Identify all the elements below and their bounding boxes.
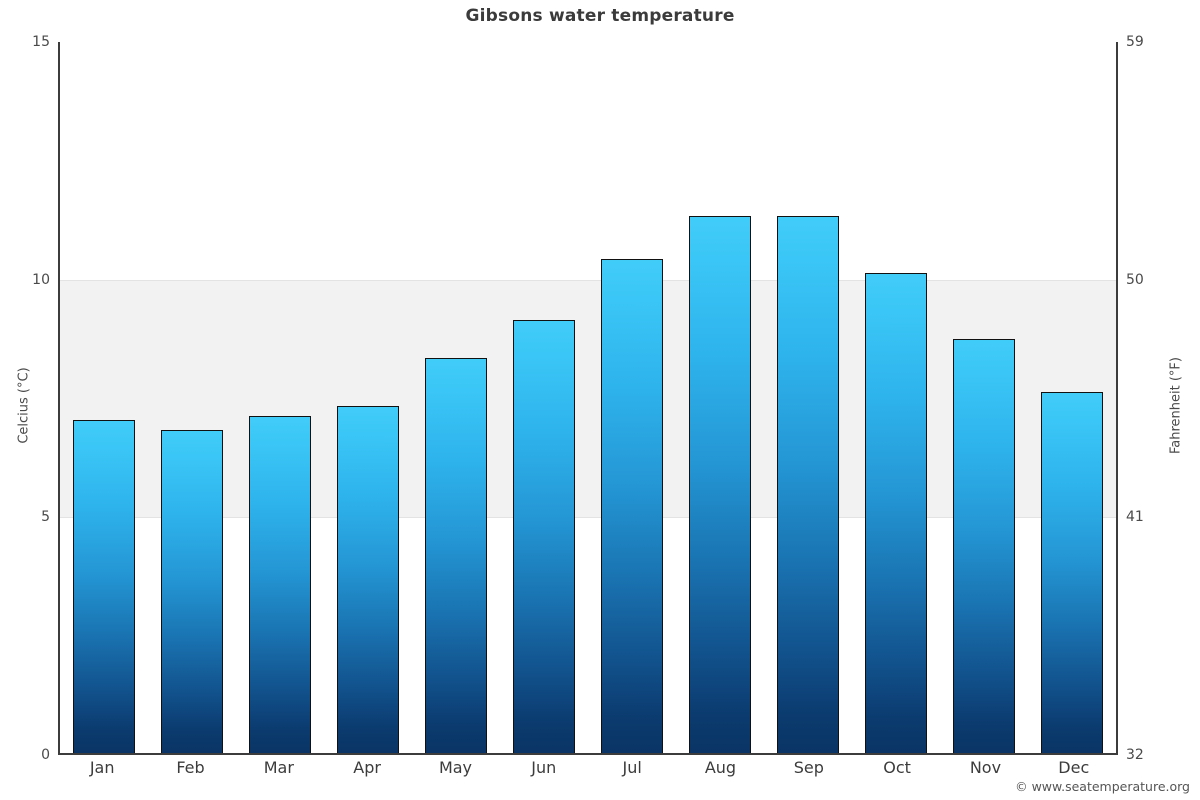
bar-slot (1028, 42, 1116, 753)
y-tick-fahrenheit: 50 (1126, 272, 1176, 288)
bar-slot (60, 42, 148, 753)
y-tick-fahrenheit: 59 (1126, 34, 1176, 50)
bar-slot (324, 42, 412, 753)
x-label-apr: Apr (323, 758, 411, 786)
bar-nov[interactable] (953, 339, 1015, 753)
bar-slot (940, 42, 1028, 753)
x-label-jan: Jan (58, 758, 146, 786)
x-axis-labels: JanFebMarAprMayJunJulAugSepOctNovDec (58, 758, 1118, 786)
bar-slot (500, 42, 588, 753)
bar-may[interactable] (425, 358, 487, 753)
x-label-feb: Feb (146, 758, 234, 786)
bar-slot (148, 42, 236, 753)
bar-aug[interactable] (689, 216, 751, 753)
x-label-jul: Jul (588, 758, 676, 786)
x-label-sep: Sep (765, 758, 853, 786)
x-label-jun: Jun (500, 758, 588, 786)
copyright-credit: © www.seatemperature.org (1015, 779, 1190, 794)
y-tick-celsius: 5 (6, 509, 50, 525)
x-label-may: May (411, 758, 499, 786)
y-tick-fahrenheit: 32 (1126, 747, 1176, 763)
bar-apr[interactable] (337, 406, 399, 753)
bar-slot (764, 42, 852, 753)
plot-area (58, 42, 1118, 755)
bar-dec[interactable] (1041, 392, 1103, 753)
y-axis-left-title: Celcius (°C) (17, 306, 32, 506)
y-tick-celsius: 0 (6, 747, 50, 763)
bar-jun[interactable] (513, 320, 575, 753)
bar-feb[interactable] (161, 430, 223, 753)
y-axis-right-title: Fahrenheit (°F) (1169, 306, 1184, 506)
bar-slot (236, 42, 324, 753)
x-label-oct: Oct (853, 758, 941, 786)
y-tick-celsius: 15 (6, 34, 50, 50)
y-tick-fahrenheit: 41 (1126, 509, 1176, 525)
bar-oct[interactable] (865, 273, 927, 753)
bar-mar[interactable] (249, 416, 311, 753)
x-label-aug: Aug (676, 758, 764, 786)
bar-slot (588, 42, 676, 753)
bar-series (60, 42, 1116, 753)
y-tick-celsius: 10 (6, 272, 50, 288)
bar-jul[interactable] (601, 259, 663, 753)
water-temperature-chart: Gibsons water temperature 051015 3241505… (0, 0, 1200, 800)
bar-slot (676, 42, 764, 753)
bar-slot (852, 42, 940, 753)
chart-title: Gibsons water temperature (0, 6, 1200, 26)
bar-sep[interactable] (777, 216, 839, 753)
bar-slot (412, 42, 500, 753)
x-label-mar: Mar (235, 758, 323, 786)
bar-jan[interactable] (73, 420, 135, 753)
